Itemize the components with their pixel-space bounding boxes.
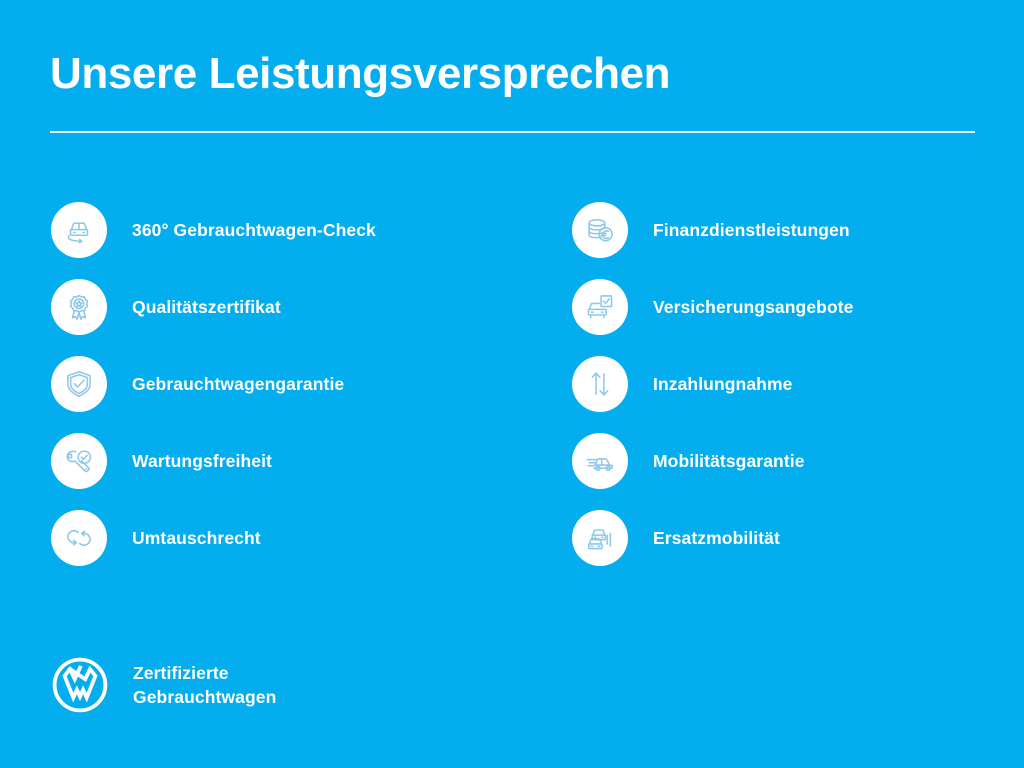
wrench-check-icon bbox=[51, 433, 107, 489]
slide-root: Unsere Leistungsversprechen 360° bbox=[0, 0, 1024, 768]
benefit-label: Versicherungsangebote bbox=[653, 297, 854, 318]
benefit-label: Mobilitätsgarantie bbox=[653, 451, 805, 472]
benefit-item-ersatzmobilitaet[interactable]: Ersatzmobilität bbox=[572, 510, 1012, 566]
benefit-item-umtauschrecht[interactable]: Umtauschrecht bbox=[51, 510, 521, 566]
brand-text: Zertifizierte Gebrauchtwagen bbox=[133, 661, 276, 709]
benefits-column-right: Finanzdienstleistungen Versicheru bbox=[572, 202, 1012, 587]
benefit-item-gebrauchtwagengarantie[interactable]: Gebrauchtwagengarantie bbox=[51, 356, 521, 412]
coins-euro-icon bbox=[572, 202, 628, 258]
benefit-item-versicherungsangebote[interactable]: Versicherungsangebote bbox=[572, 279, 1012, 335]
benefit-label: Qualitätszertifikat bbox=[132, 297, 281, 318]
up-down-arrows-icon bbox=[572, 356, 628, 412]
brand-text-line2: Gebrauchtwagen bbox=[133, 685, 276, 709]
benefit-label: Gebrauchtwagengarantie bbox=[132, 374, 344, 395]
award-rosette-icon bbox=[51, 279, 107, 335]
vw-logo bbox=[51, 656, 109, 714]
shield-check-icon bbox=[51, 356, 107, 412]
brand-lockup: Zertifizierte Gebrauchtwagen bbox=[51, 656, 276, 714]
benefit-label: 360° Gebrauchtwagen-Check bbox=[132, 220, 376, 241]
car-speed-icon bbox=[572, 433, 628, 489]
car-360-check-icon bbox=[51, 202, 107, 258]
title-divider bbox=[50, 131, 975, 133]
benefit-label: Ersatzmobilität bbox=[653, 528, 780, 549]
brand-text-line1: Zertifizierte bbox=[133, 661, 276, 685]
benefit-item-mobilitaetsgarantie[interactable]: Mobilitätsgarantie bbox=[572, 433, 1012, 489]
benefit-item-wartungsfreiheit[interactable]: Wartungsfreiheit bbox=[51, 433, 521, 489]
benefit-label: Wartungsfreiheit bbox=[132, 451, 272, 472]
benefit-label: Finanzdienstleistungen bbox=[653, 220, 850, 241]
benefit-item-inzahlungnahme[interactable]: Inzahlungnahme bbox=[572, 356, 1012, 412]
benefit-item-qualitaetszertifikat[interactable]: Qualitätszertifikat bbox=[51, 279, 521, 335]
car-document-check-icon bbox=[572, 279, 628, 335]
header: Unsere Leistungsversprechen bbox=[50, 48, 976, 100]
benefit-item-finanzdienstleistungen[interactable]: Finanzdienstleistungen bbox=[572, 202, 1012, 258]
benefits-column-left: 360° Gebrauchtwagen-Check Qualitätszerti… bbox=[51, 202, 521, 587]
page-title: Unsere Leistungsversprechen bbox=[50, 48, 976, 100]
two-cars-icon bbox=[572, 510, 628, 566]
benefit-label: Inzahlungnahme bbox=[653, 374, 792, 395]
benefit-label: Umtauschrecht bbox=[132, 528, 261, 549]
exchange-arrows-icon bbox=[51, 510, 107, 566]
benefit-item-gebrauchtwagen-check[interactable]: 360° Gebrauchtwagen-Check bbox=[51, 202, 521, 258]
